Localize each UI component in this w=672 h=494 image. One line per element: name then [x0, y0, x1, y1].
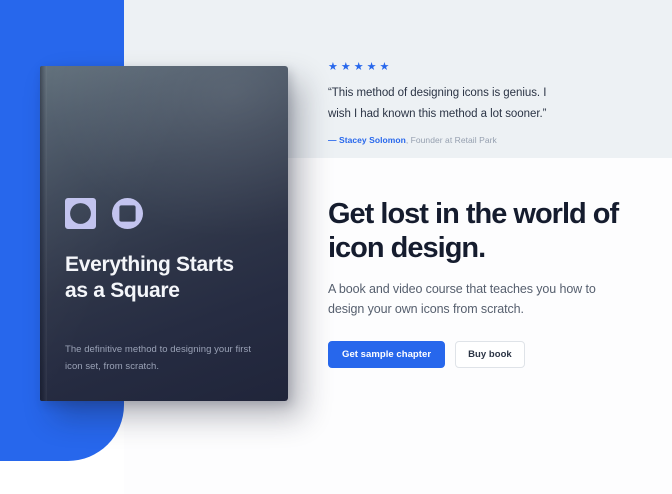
- get-sample-chapter-button[interactable]: Get sample chapter: [328, 341, 445, 368]
- star-rating: ★ ★ ★ ★ ★: [328, 62, 638, 73]
- star-icon: ★: [380, 62, 390, 73]
- testimonial-attribution: — Stacey Solomon, Founder at Retail Park: [328, 135, 638, 145]
- book-subtitle: The definitive method to designing your …: [65, 342, 261, 376]
- hero-section: Get lost in the world of icon design. A …: [328, 198, 648, 368]
- book-spine: [40, 66, 47, 401]
- book-cover[interactable]: Everything Starts as a Square The defini…: [40, 66, 288, 401]
- page-title: Get lost in the world of icon design.: [328, 198, 648, 265]
- star-icon: ★: [328, 62, 338, 73]
- landing-page: Everything Starts as a Square The defini…: [0, 0, 672, 494]
- buy-book-button[interactable]: Buy book: [455, 341, 525, 368]
- book-title: Everything Starts as a Square: [65, 252, 245, 305]
- testimonial-author-role: , Founder at Retail Park: [406, 135, 497, 145]
- attribution-dash: —: [328, 135, 337, 145]
- testimonial-quote: “This method of designing icons is geniu…: [328, 83, 563, 125]
- testimonial-author: Stacey Solomon: [339, 135, 406, 145]
- circle-with-rounded-square-icon: [112, 198, 143, 234]
- book-logo-marks: [65, 198, 143, 234]
- cta-button-row: Get sample chapter Buy book: [328, 341, 648, 368]
- book-cover-content: Everything Starts as a Square The defini…: [65, 66, 268, 401]
- rounded-square-with-circle-icon: [65, 198, 96, 234]
- testimonial: ★ ★ ★ ★ ★ “This method of designing icon…: [328, 62, 638, 145]
- hero-subtitle: A book and video course that teaches you…: [328, 280, 628, 320]
- star-icon: ★: [367, 62, 377, 73]
- star-icon: ★: [341, 62, 351, 73]
- star-icon: ★: [354, 62, 364, 73]
